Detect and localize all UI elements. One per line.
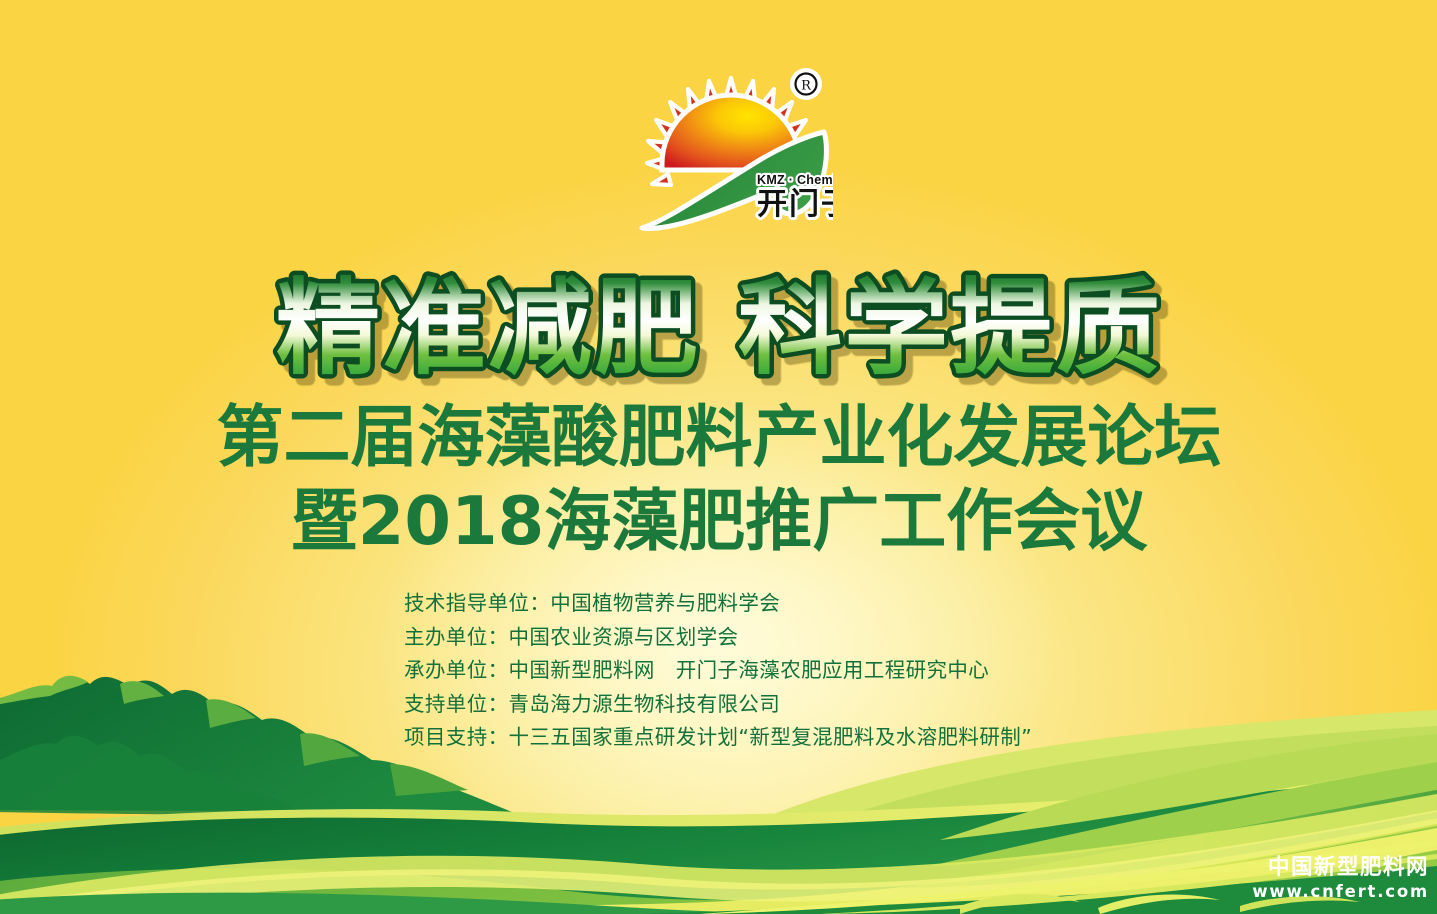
subtitle-line-1: 第二届海藻酸肥料产业化发展论坛: [216, 398, 1221, 476]
subtitle-line-2-wrap: 暨2018海藻肥推广工作会议: [0, 481, 1437, 561]
headline: 精准减肥 科学提质 精准减肥 科学提质: [0, 268, 1437, 388]
svg-text:R: R: [801, 79, 812, 94]
credit-line-project-support: 项目支持：十三五国家重点研发计划“新型复混肥料及水溶肥料研制”: [404, 721, 1124, 755]
credit-line-organizer: 主办单位：中国农业资源与区划学会: [404, 621, 1124, 655]
watermark-site-name: 中国新型肥料网: [1252, 857, 1429, 880]
brand-logo: R KMZ · Chemical KMZ · Chemical 开门子 开门子: [628, 62, 833, 242]
subtitle-line-1-wrap: 第二届海藻酸肥料产业化发展论坛: [0, 398, 1437, 476]
credit-line-technical-guidance: 技术指导单位：中国植物营养与肥料学会: [404, 587, 1124, 621]
event-poster: R KMZ · Chemical KMZ · Chemical 开门子 开门子: [0, 0, 1437, 914]
credit-line-supporter: 支持单位：青岛海力源生物科技有限公司: [404, 688, 1124, 722]
headline-text-fill: 精准减肥 科学提质: [275, 268, 1161, 388]
credit-line-co-organizer: 承办单位：中国新型肥料网 开门子海藻农肥应用工程研究中心: [404, 654, 1124, 688]
subtitle-line-2: 暨2018海藻肥推广工作会议: [290, 482, 1147, 560]
registered-trademark-icon: R: [790, 68, 822, 100]
credits-block: 技术指导单位：中国植物营养与肥料学会 主办单位：中国农业资源与区划学会 承办单位…: [404, 587, 1124, 755]
logo-wordmark: KMZ · Chemical KMZ · Chemical 开门子 开门子: [757, 173, 833, 222]
svg-text:KMZ · Chemical: KMZ · Chemical: [757, 173, 833, 187]
svg-text:开门子: 开门子: [757, 187, 833, 222]
watermark-url: www.cnfert.com: [1252, 883, 1429, 900]
site-watermark: 中国新型肥料网 www.cnfert.com: [1252, 857, 1429, 900]
